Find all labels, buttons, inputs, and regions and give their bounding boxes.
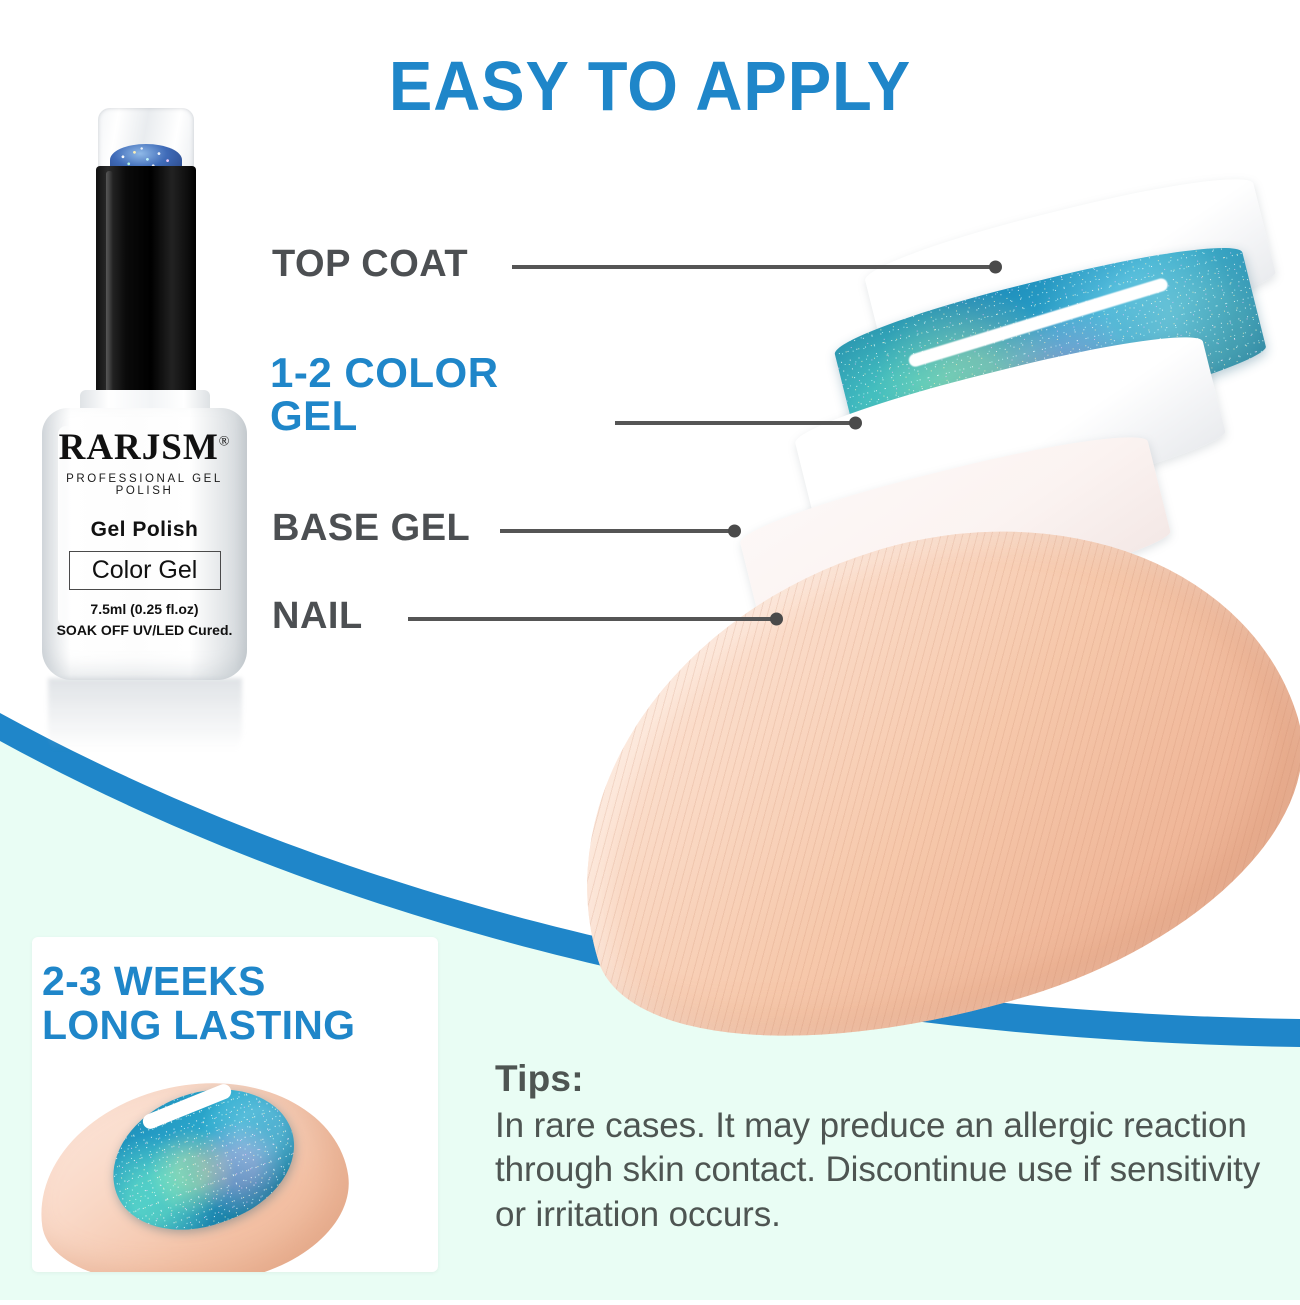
tips-section: Tips: In rare cases. It may preduce an a… <box>495 1058 1275 1237</box>
diagram-label-base-gel: BASE GEL <box>272 507 470 550</box>
tips-body: In rare cases. It may preduce an allergi… <box>495 1104 1275 1237</box>
leader-line-top-coat <box>512 265 997 269</box>
product-line-label: Gel Polish <box>42 518 247 542</box>
leader-dot-base-gel <box>728 525 741 538</box>
brand-text: RARJSM <box>59 427 219 468</box>
bottle-label: RARJSM® PROFESSIONAL GEL POLISH Gel Poli… <box>42 426 247 638</box>
leader-dot-color-gel <box>849 417 862 430</box>
leader-line-nail <box>408 617 778 621</box>
long-lasting-line2: LONG LASTING <box>42 1003 434 1047</box>
product-type-label: Color Gel <box>69 551 221 590</box>
diagram-label-top-coat: TOP COAT <box>272 243 468 286</box>
brand-tagline: PROFESSIONAL GEL POLISH <box>42 473 247 497</box>
leader-dot-top-coat <box>989 261 1002 274</box>
product-bottle: RARJSM® PROFESSIONAL GEL POLISH Gel Poli… <box>18 108 268 683</box>
long-lasting-card: 2-3 WEEKS LONG LASTING <box>32 937 438 1272</box>
diagram-label-nail: NAIL <box>272 595 363 638</box>
diagram-label-color-gel: 1-2 COLOR GEL <box>270 352 499 438</box>
tips-heading: Tips: <box>495 1058 1275 1100</box>
volume-label: 7.5ml (0.25 fl.oz) <box>42 601 247 617</box>
brand-name: RARJSM® <box>59 426 231 469</box>
long-lasting-title: 2-3 WEEKS LONG LASTING <box>42 959 434 1048</box>
long-lasting-line1: 2-3 WEEKS <box>42 959 434 1003</box>
cure-note-label: SOAK OFF UV/LED Cured. <box>42 622 247 638</box>
leader-dot-nail <box>770 613 783 626</box>
diagram-label-color-gel-line1: 1-2 COLOR <box>270 352 499 395</box>
bottle-reflection <box>48 678 242 766</box>
long-lasting-photo <box>32 1077 438 1272</box>
registered-trademark-icon: ® <box>219 435 231 450</box>
infographic-canvas: EASY TO APPLY RARJSM® PROFESSIONAL GEL P… <box>0 0 1300 1300</box>
diagram-label-color-gel-line2: GEL <box>270 395 499 438</box>
leader-line-base-gel <box>500 529 736 533</box>
bottle-cap-black <box>96 166 196 401</box>
leader-line-color-gel <box>615 421 857 425</box>
